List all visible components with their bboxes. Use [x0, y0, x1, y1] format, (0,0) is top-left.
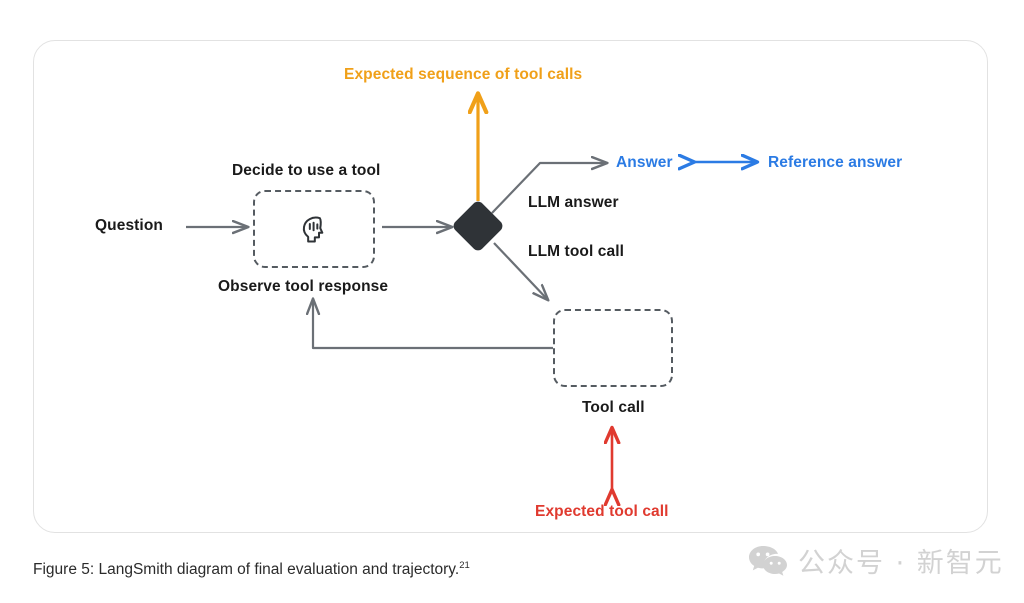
observe-tool-response-label: Observe tool response — [218, 278, 388, 296]
expected-sequence-of-tool-calls-label: Expected sequence of tool calls — [344, 66, 582, 84]
tool-call-node[interactable] — [553, 309, 673, 387]
tool-call-label: Tool call — [582, 399, 645, 417]
llm-tool-call-edge-label: LLM tool call — [528, 243, 624, 261]
question-label: Question — [95, 217, 163, 235]
figure-card — [33, 40, 988, 533]
figure-caption-text: Figure 5: LangSmith diagram of final eva… — [33, 561, 459, 578]
decide-to-use-tool-node[interactable] — [253, 190, 375, 268]
decide-to-use-tool-label: Decide to use a tool — [232, 162, 380, 180]
figure-caption: Figure 5: LangSmith diagram of final eva… — [33, 560, 470, 579]
head-thinking-icon — [294, 209, 334, 249]
reference-answer-label: Reference answer — [768, 154, 902, 172]
figure-root: Question Decide to use a tool Observe to… — [0, 0, 1024, 603]
figure-caption-footnote: 21 — [459, 560, 470, 571]
expected-tool-call-label: Expected tool call — [535, 503, 669, 521]
watermark: 公众号 · 新智元 — [748, 541, 1004, 580]
watermark-text: 公众号 · 新智元 — [798, 541, 1004, 580]
llm-answer-edge-label: LLM answer — [528, 194, 619, 212]
answer-label: Answer — [616, 154, 673, 172]
wechat-icon — [748, 544, 788, 578]
